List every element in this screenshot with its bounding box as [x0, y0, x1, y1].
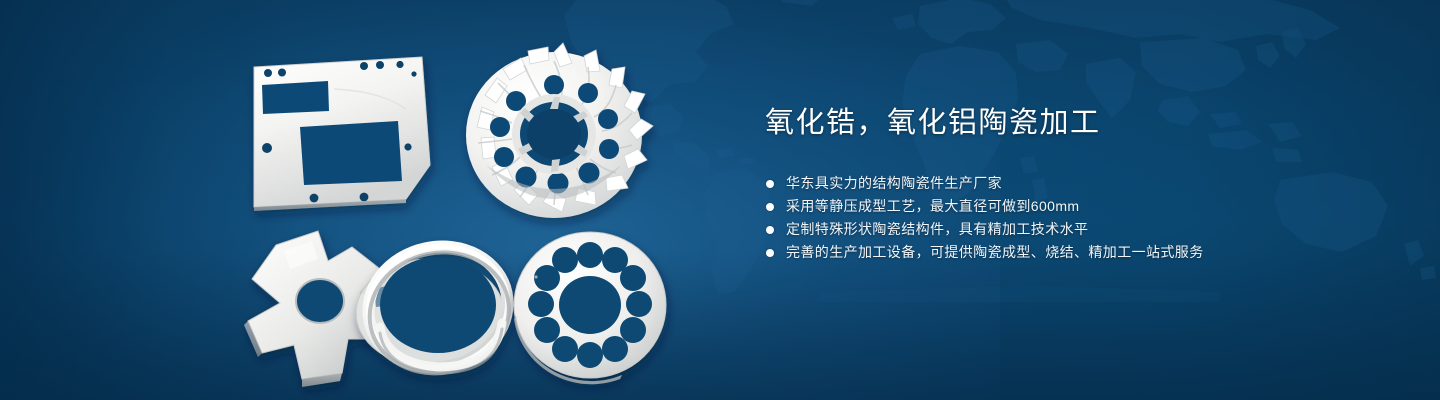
banner-feature-list: 华东具实力的结构陶瓷件生产厂家 采用等静压成型工艺，最大直径可做到600mm 定… [765, 172, 1385, 264]
banner-headline: 氧化锆，氧化铝陶瓷加工 [765, 105, 1385, 141]
hero-banner: 氧化锆，氧化铝陶瓷加工 华东具实力的结构陶瓷件生产厂家 采用等静压成型工艺，最大… [0, 0, 1440, 400]
bullet-dot-icon [766, 203, 774, 211]
ceramic-perforated-disc-part [514, 232, 666, 384]
bullet-dot-icon [766, 226, 774, 234]
feature-text: 采用等静压成型工艺，最大直径可做到600mm [786, 195, 1079, 218]
feature-text: 定制特殊形状陶瓷结构件，具有精加工技术水平 [786, 218, 1088, 241]
bullet-dot-icon [766, 180, 774, 188]
banner-text-block: 氧化锆，氧化铝陶瓷加工 华东具实力的结构陶瓷件生产厂家 采用等静压成型工艺，最大… [765, 105, 1385, 264]
list-item: 完善的生产加工设备，可提供陶瓷成型、烧结、精加工一站式服务 [765, 241, 1385, 264]
ceramic-impeller-part [466, 43, 653, 218]
list-item: 定制特殊形状陶瓷结构件，具有精加工技术水平 [765, 218, 1385, 241]
ceramic-products-image-group [230, 35, 700, 375]
feature-text: 完善的生产加工设备，可提供陶瓷成型、烧结、精加工一站式服务 [786, 241, 1204, 264]
ceramic-ring-part [356, 234, 520, 386]
list-item: 华东具实力的结构陶瓷件生产厂家 [765, 172, 1385, 195]
list-item: 采用等静压成型工艺，最大直径可做到600mm [765, 195, 1385, 218]
bullet-dot-icon [766, 249, 774, 257]
feature-text: 华东具实力的结构陶瓷件生产厂家 [786, 172, 1002, 195]
ceramic-plate-part [254, 57, 430, 211]
